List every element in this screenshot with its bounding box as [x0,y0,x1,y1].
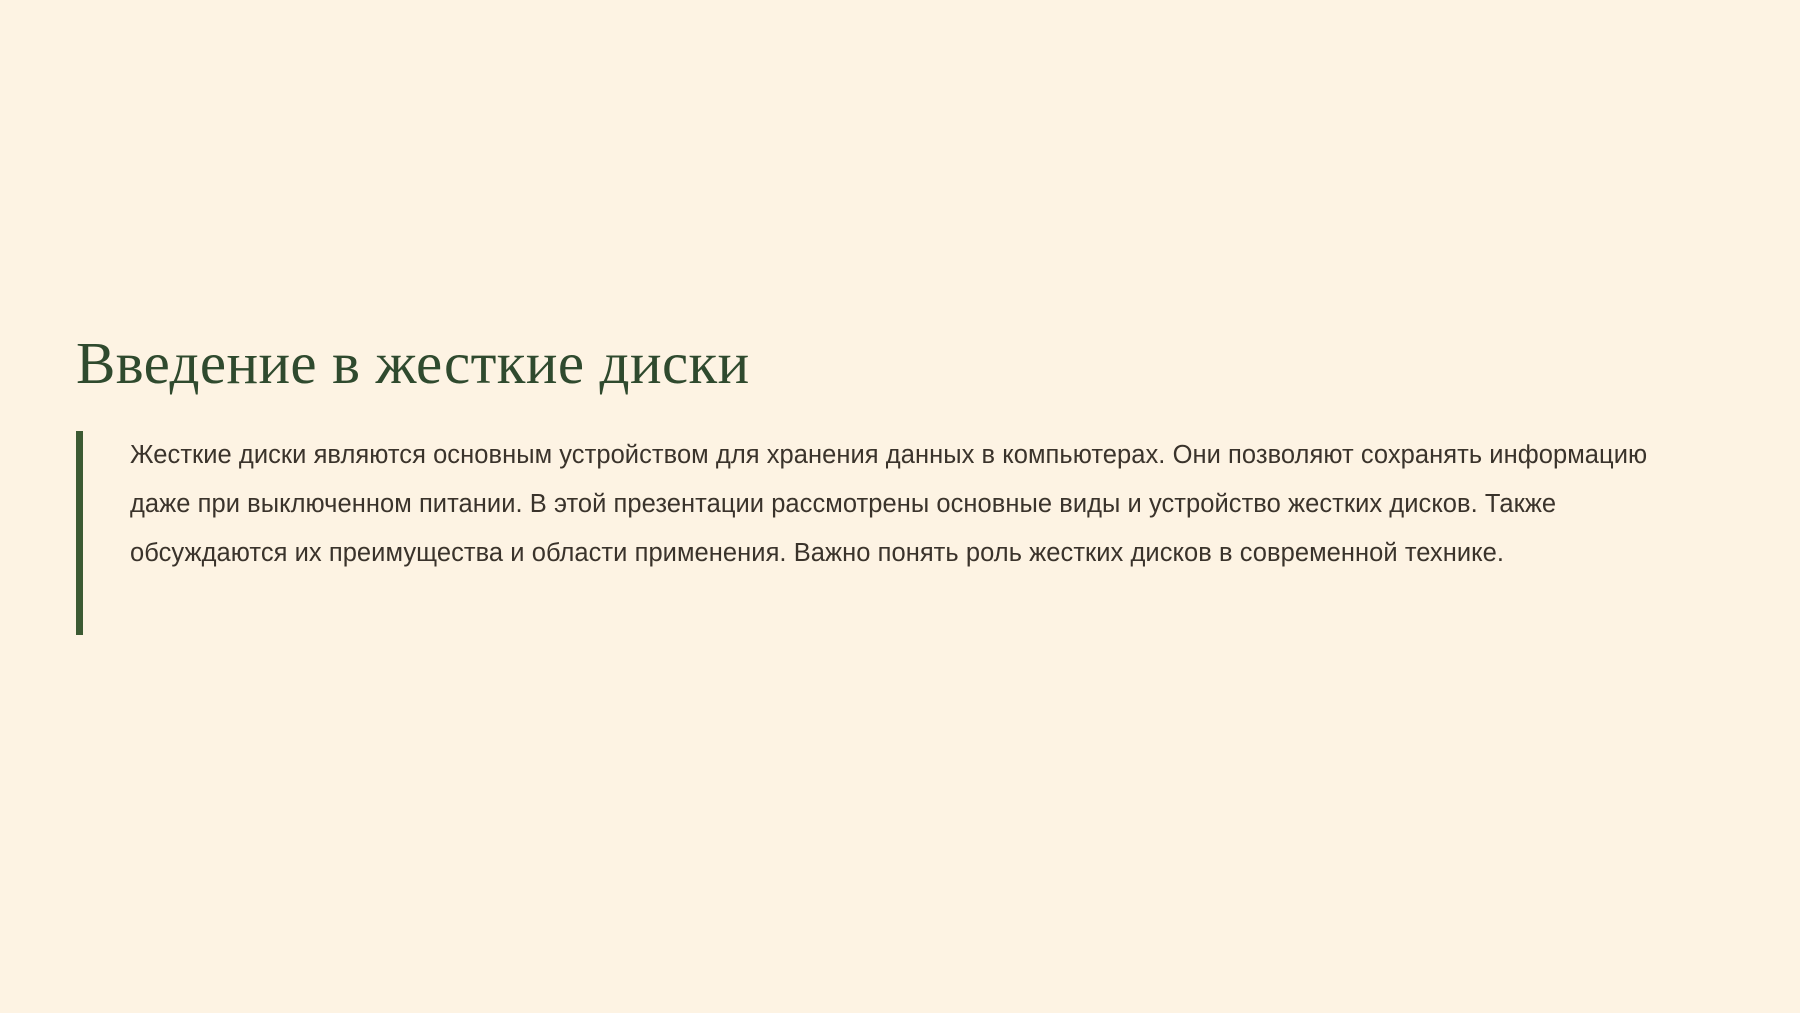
presentation-slide: Введение в жесткие диски Жесткие диски я… [0,0,1800,1013]
page-title: Введение в жесткие диски [76,330,1736,396]
accent-bar [76,431,83,635]
slide-content: Введение в жесткие диски Жесткие диски я… [76,330,1736,635]
body-block: Жесткие диски являются основным устройст… [76,431,1736,635]
body-paragraph: Жесткие диски являются основным устройст… [130,431,1712,578]
